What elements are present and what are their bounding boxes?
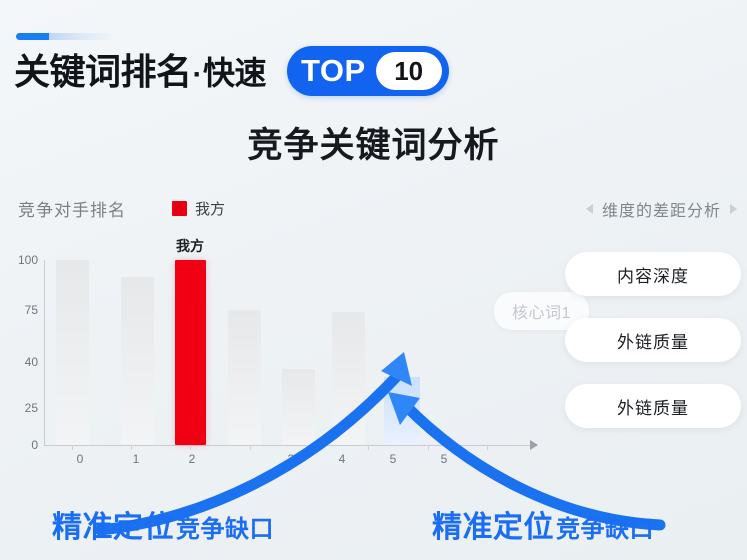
page-title-separator: · [192, 58, 204, 91]
bar-2-highlighted[interactable] [175, 260, 206, 445]
dimension-card[interactable]: 内容深度 [565, 252, 741, 296]
top-badge-number: 10 [376, 52, 442, 90]
y-tick-label: 100 [0, 253, 38, 267]
header-title-row: 关键词排名·快速 [14, 44, 266, 100]
legend-label: 我方 [195, 198, 225, 219]
bar-6-opportunity[interactable] [384, 377, 420, 445]
x-tick-label: 2 [189, 452, 196, 466]
bar-callout-label: 我方 [176, 236, 204, 256]
main-heading: 竞争关键词分析 [0, 117, 747, 168]
chart-header: 竞争对手排名 我方 [18, 196, 225, 221]
header-decoration-bar [16, 33, 112, 40]
x-tick-label: 0 [77, 452, 84, 466]
x-tick-label: 3 [288, 452, 295, 466]
x-tick-label: 1 [133, 452, 140, 466]
page-title: 关键词排名·快速 [14, 54, 266, 90]
decoration-segment-solid [16, 33, 49, 40]
bar-4[interactable] [282, 369, 315, 445]
triangle-right-icon[interactable] [730, 204, 737, 214]
page-title-main: 关键词排名 [14, 51, 192, 92]
decoration-segment-fade [49, 33, 112, 40]
chart-legend: 我方 [172, 198, 225, 219]
x-tick-label: 4 [339, 452, 346, 466]
dimension-card-list: 内容深度 外链质量 外链质量 [565, 252, 741, 428]
y-tick-label: 75 [0, 303, 38, 317]
bar-0[interactable] [56, 260, 89, 445]
legend-swatch-icon [172, 201, 187, 216]
dimension-panel-header: 维度的差距分析 [586, 197, 737, 221]
caption-right-secondary: 竞争缺口 [556, 509, 654, 544]
x-tick-label: 5 [390, 452, 397, 466]
caption-left-primary: 精准定位 [52, 502, 174, 546]
y-axis-ticks: 100 75 40 25 0 [0, 240, 38, 480]
top-badge-label: TOP [301, 53, 366, 89]
bar-chart: 100 75 40 25 0 我方 0 1 2 3 4 5 5 [0, 240, 560, 480]
x-axis-line [44, 445, 532, 446]
caption-right-primary: 精准定位 [432, 502, 554, 546]
bar-3[interactable] [228, 310, 261, 445]
x-tick-label: 5 [441, 452, 448, 466]
dimension-card[interactable]: 外链质量 [565, 384, 741, 428]
caption-left: 精准定位 竞争缺口 [52, 502, 274, 546]
bar-1[interactable] [121, 277, 154, 445]
dimension-panel-title: 维度的差距分析 [602, 197, 721, 221]
caption-left-secondary: 竞争缺口 [176, 509, 274, 544]
page-title-sub: 快速 [203, 55, 266, 91]
bar-group: 我方 [44, 260, 532, 445]
top-rank-badge[interactable]: TOP 10 [287, 46, 449, 96]
triangle-left-icon[interactable] [586, 204, 593, 214]
chart-title: 竞争对手排名 [18, 196, 126, 221]
dimension-card[interactable]: 外链质量 [565, 318, 741, 362]
y-tick-label: 0 [0, 438, 38, 452]
caption-right: 精准定位 竞争缺口 [432, 502, 654, 546]
y-tick-label: 25 [0, 401, 38, 415]
bar-5[interactable] [332, 312, 365, 445]
y-tick-label: 40 [0, 355, 38, 369]
